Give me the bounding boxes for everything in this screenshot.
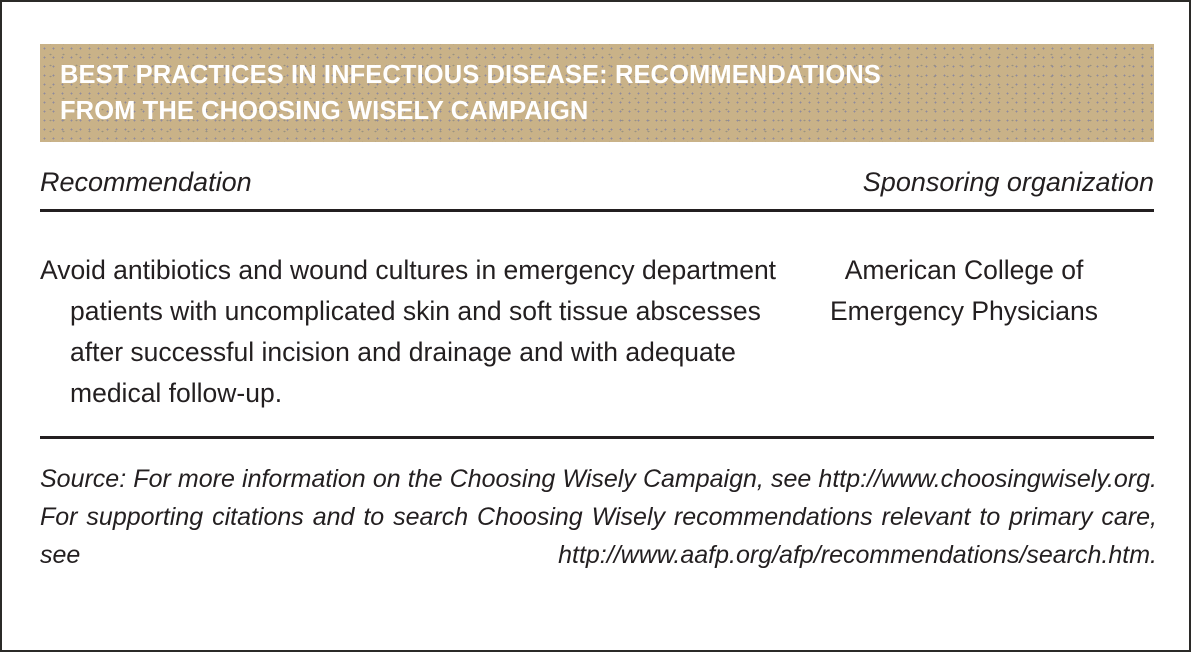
table-title-band: BEST PRACTICES IN INFECTIOUS DISEASE: RE… bbox=[40, 44, 1154, 142]
table-title: BEST PRACTICES IN INFECTIOUS DISEASE: RE… bbox=[60, 57, 1136, 129]
header-rule bbox=[40, 209, 1154, 212]
source-note: Source: For more information on the Choo… bbox=[40, 460, 1157, 612]
cell-recommendation: Avoid antibiotics and wound cultures in … bbox=[40, 250, 780, 414]
source-rule bbox=[40, 436, 1154, 439]
column-header-sponsoring-organization: Sponsoring organization bbox=[863, 167, 1154, 198]
column-header-recommendation: Recommendation bbox=[40, 167, 252, 198]
table-figure: BEST PRACTICES IN INFECTIOUS DISEASE: RE… bbox=[0, 0, 1191, 652]
column-header-row: Recommendation Sponsoring organization bbox=[40, 167, 1154, 211]
cell-sponsoring-organization: American College of Emergency Physicians bbox=[780, 250, 1154, 332]
table-row: Avoid antibiotics and wound cultures in … bbox=[40, 250, 1154, 414]
